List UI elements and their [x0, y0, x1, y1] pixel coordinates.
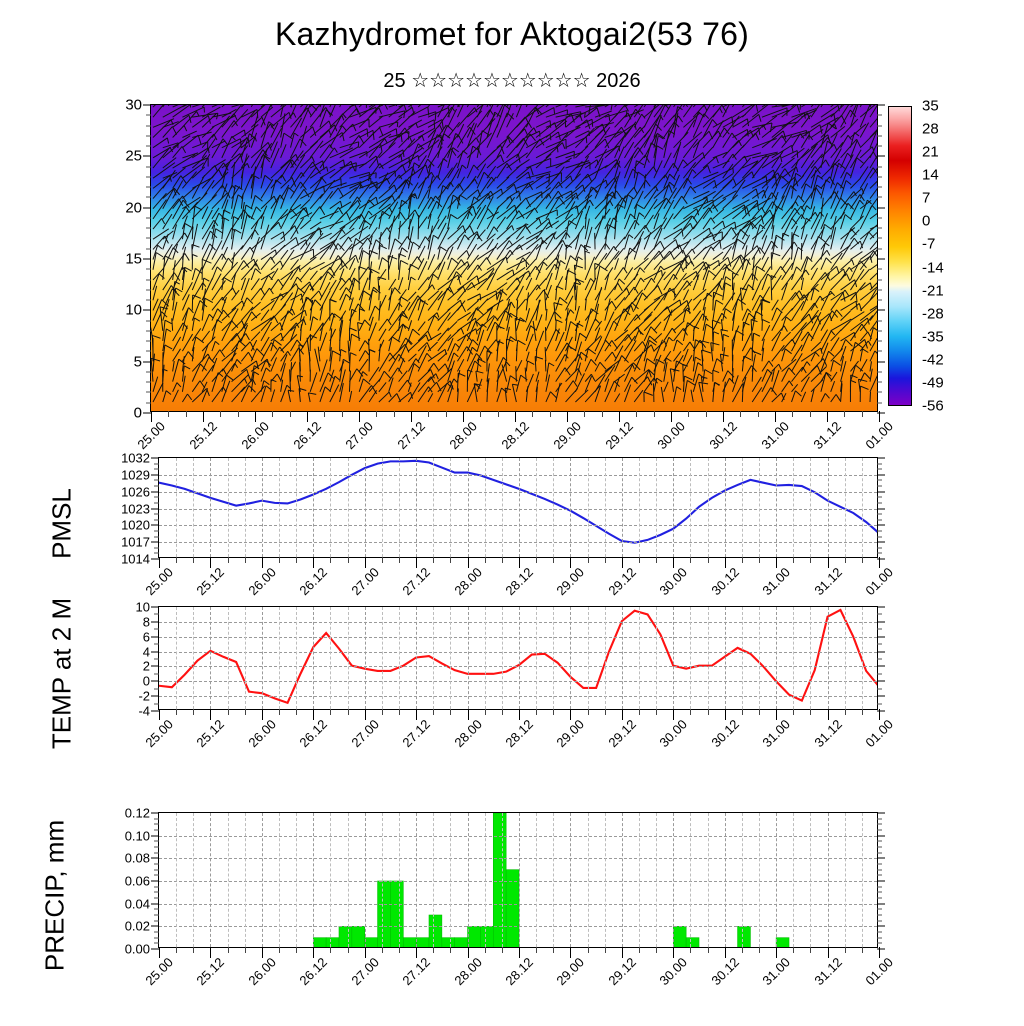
wind-barb	[850, 158, 856, 178]
x-tick-mark	[262, 557, 263, 568]
x-tick-label: 26.12	[290, 419, 324, 453]
wind-barb	[546, 329, 556, 351]
y-minor-tick	[154, 688, 159, 689]
wind-barb	[713, 382, 715, 402]
wind-barb-feather	[463, 151, 467, 154]
wind-barb-feather	[588, 349, 596, 354]
wind-barb	[359, 173, 376, 178]
wind-barb-feather	[720, 108, 722, 113]
wind-barb-feather	[634, 287, 638, 293]
y-tick-mark	[877, 525, 885, 526]
y-minor-tick	[154, 659, 159, 660]
wind-barb	[674, 206, 684, 219]
x-minor-tick	[656, 709, 657, 715]
wind-barb-feather	[637, 204, 644, 208]
wind-barb	[674, 216, 692, 229]
wind-barb	[782, 258, 791, 270]
wind-barb-feather	[476, 308, 483, 315]
grid-line-vertical-minor	[433, 458, 434, 557]
grid-line-vertical	[828, 607, 829, 709]
wind-barb-feather	[724, 128, 729, 134]
wind-barb	[340, 142, 359, 148]
wind-barb-feather	[465, 235, 470, 240]
grid-line-vertical	[416, 458, 417, 557]
wind-barb	[615, 393, 620, 401]
wind-barb	[379, 207, 389, 219]
wind-barb-feather	[852, 260, 854, 266]
wind-barb	[526, 108, 536, 128]
grid-line-vertical-minor	[176, 813, 177, 947]
wind-barb	[516, 105, 524, 117]
wind-barb-feather	[257, 349, 264, 356]
wind-barb-feather	[793, 234, 799, 237]
x-minor-tick	[394, 411, 395, 417]
wind-barb-feather	[176, 288, 183, 292]
y-tick-mark	[151, 636, 159, 637]
wind-barb	[359, 351, 365, 362]
wind-barb	[811, 296, 820, 310]
wind-barb-feather	[658, 285, 662, 294]
y-minor-tick	[146, 320, 151, 321]
wind-barb	[566, 245, 567, 260]
wind-barb	[399, 221, 401, 239]
grid-line-horizontal	[159, 622, 877, 623]
wind-barb-feather	[709, 228, 710, 233]
y-minor-tick	[877, 932, 882, 933]
grid-line-vertical	[673, 458, 674, 557]
wind-barb	[752, 105, 774, 117]
wind-barb	[634, 161, 636, 179]
grid-line-horizontal	[159, 652, 877, 653]
y-tick-mark	[877, 651, 885, 652]
wind-barb	[222, 228, 232, 250]
wind-barb	[448, 321, 458, 330]
y-tick-label: 30	[125, 97, 142, 114]
x-minor-tick	[759, 947, 760, 953]
x-minor-tick	[605, 709, 606, 715]
wind-barb-feather	[467, 250, 470, 256]
wind-barb-feather	[365, 351, 369, 355]
wind-barb	[271, 123, 278, 137]
wind-barb-feather	[402, 248, 408, 252]
wind-barb	[369, 128, 380, 138]
wind-barb-feather	[195, 206, 202, 210]
wind-barb	[389, 303, 399, 321]
wind-barb-feather	[395, 239, 402, 244]
y-minor-tick	[154, 915, 159, 916]
wind-barb-feather	[254, 372, 259, 375]
wind-barb	[821, 180, 826, 199]
wind-barb	[291, 362, 292, 381]
wind-barb-feather	[433, 274, 438, 278]
wind-barb	[438, 105, 455, 107]
y-minor-tick	[154, 920, 159, 921]
wind-barb	[536, 290, 544, 300]
precip-bar	[339, 926, 352, 947]
x-minor-tick	[296, 947, 297, 953]
x-minor-tick	[245, 709, 246, 715]
wind-barb-feather	[204, 278, 210, 281]
wind-barb-feather	[609, 114, 610, 121]
wind-barb	[792, 301, 804, 320]
wind-barb	[546, 312, 554, 331]
wind-barb	[615, 128, 631, 148]
wind-barb	[467, 105, 478, 107]
wind-barb-feather	[816, 352, 820, 356]
colorbar-tick-label: 7	[922, 190, 930, 207]
wind-barb	[309, 352, 310, 372]
y-tick-mark	[151, 858, 159, 859]
wind-barb-feather	[365, 220, 372, 225]
wind-barb	[713, 121, 724, 138]
grid-line-vertical-minor	[588, 813, 589, 947]
y-tick-mark	[151, 949, 159, 950]
x-tick-mark	[313, 947, 314, 958]
wind-barb	[182, 186, 196, 198]
wind-barb	[300, 267, 310, 279]
wind-barb	[477, 209, 488, 229]
grid-line-vertical	[468, 458, 469, 557]
wind-barb-feather	[340, 201, 341, 207]
wind-barb	[615, 237, 625, 250]
colorbar-tick-label: 0	[922, 213, 930, 230]
y-minor-tick	[154, 547, 159, 548]
x-tick-label: 25.12	[194, 717, 228, 751]
wind-barb	[585, 299, 586, 311]
wind-barb-feather	[695, 357, 700, 360]
grid-line-vertical-minor	[450, 458, 451, 557]
x-minor-tick	[330, 709, 331, 715]
wind-barb	[566, 120, 587, 138]
wind-barb	[752, 367, 753, 382]
wind-barb	[831, 105, 848, 107]
wind-barb	[182, 172, 196, 189]
grid-line-horizontal	[159, 836, 877, 837]
x-minor-tick	[450, 709, 451, 715]
grid-line-vertical-minor	[845, 813, 846, 947]
wind-barb	[762, 173, 778, 189]
wind-barb	[173, 361, 175, 371]
x-tick-label: 28.12	[502, 717, 536, 751]
y-tick-label: -2	[138, 689, 150, 704]
wind-barb-feather	[401, 260, 409, 264]
wind-barb	[163, 391, 166, 402]
y-tick-mark	[151, 621, 159, 622]
wind-barb-feather	[215, 341, 219, 344]
wind-barb	[232, 369, 247, 381]
wind-barb-feather	[312, 157, 314, 163]
wind-barb	[369, 134, 391, 148]
wind-barb	[330, 280, 336, 290]
wind-barb	[202, 210, 212, 229]
x-minor-tick	[330, 557, 331, 563]
wind-barb-feather	[166, 391, 171, 395]
y-minor-tick	[877, 536, 882, 537]
wind-barb-feather	[177, 383, 181, 387]
grid-line-horizontal	[159, 666, 877, 667]
wind-barb	[448, 239, 459, 249]
wind-barb	[566, 381, 574, 392]
wind-barb-feather	[657, 146, 663, 149]
wind-barb	[448, 272, 457, 291]
grid-line-vertical-minor	[845, 607, 846, 709]
wind-barb-feather	[256, 263, 259, 270]
wind-barb-feather	[334, 148, 337, 153]
x-tick-label: 29.12	[602, 419, 636, 453]
grid-line-vertical	[519, 607, 520, 709]
y-minor-tick	[146, 269, 151, 270]
wind-barb	[762, 325, 770, 341]
wind-barb-feather	[338, 188, 343, 196]
wind-barb	[438, 383, 447, 402]
y-tick-label: 1014	[121, 552, 150, 567]
wind-barb	[232, 290, 240, 300]
y-tick-mark	[143, 413, 151, 414]
wind-barb	[281, 250, 294, 270]
wind-barb	[644, 270, 661, 280]
x-minor-tick	[296, 709, 297, 715]
wind-barb-feather	[165, 320, 172, 323]
x-tick-mark	[519, 947, 520, 958]
y-tick-mark	[877, 636, 885, 637]
grid-line-vertical-minor	[245, 458, 246, 557]
y-tick-label: 0.02	[125, 919, 150, 934]
wind-barb	[595, 201, 610, 219]
grid-line-vertical-minor	[228, 458, 229, 557]
x-minor-tick	[228, 557, 229, 563]
y-tick-mark	[877, 207, 885, 208]
y-tick-mark	[143, 105, 151, 106]
wind-barb	[497, 250, 510, 270]
x-tick-label: 25.00	[142, 955, 176, 989]
y-minor-tick	[146, 197, 151, 198]
wind-barb	[222, 321, 232, 341]
wind-barb-feather	[796, 267, 801, 272]
wind-barb-feather	[167, 138, 168, 144]
wind-barb	[487, 300, 503, 311]
wind-barb	[222, 258, 228, 270]
wind-barb-feather	[162, 218, 165, 223]
grid-line-vertical	[776, 813, 777, 947]
wind-barb-feather	[702, 341, 709, 343]
wind-barb	[379, 329, 386, 341]
x-minor-tick	[636, 411, 637, 417]
y-minor-tick	[877, 553, 882, 554]
wind-barb-feather	[472, 347, 477, 351]
wind-barb	[173, 260, 176, 280]
x-minor-tick	[690, 709, 691, 715]
grid-line-horizontal	[159, 509, 877, 510]
wind-barb	[664, 240, 676, 250]
y-tick-mark	[877, 835, 885, 836]
wind-barb-feather	[786, 317, 791, 321]
y-tick-mark	[877, 903, 885, 904]
y-minor-tick	[877, 920, 882, 921]
x-minor-tick	[485, 557, 486, 563]
wind-barb	[202, 331, 209, 341]
wind-barb-feather	[454, 353, 458, 357]
grid-line-vertical-minor	[279, 607, 280, 709]
wind-barb-feather	[855, 342, 863, 348]
wind-barb	[212, 309, 218, 321]
x-tick-mark	[828, 557, 829, 568]
wind-barb-feather	[714, 332, 719, 334]
wind-barb	[418, 258, 424, 269]
x-minor-tick	[639, 709, 640, 715]
wind-barb	[418, 190, 428, 209]
wind-barb	[399, 371, 408, 382]
wind-barb	[173, 200, 183, 219]
precip-bar	[776, 938, 789, 947]
grid-line-horizontal	[159, 525, 877, 526]
wind-barb	[742, 356, 743, 371]
x-minor-tick	[656, 557, 657, 563]
x-tick-label: 31.00	[760, 955, 794, 989]
wind-barb	[751, 319, 752, 340]
wind-barb-feather	[440, 247, 446, 251]
wind-barb	[448, 379, 454, 392]
wind-barb-feather	[723, 334, 729, 336]
wind-barb-feather	[684, 376, 692, 380]
wind-barb	[349, 371, 350, 392]
wind-barb-feather	[556, 320, 562, 323]
wind-barb	[711, 343, 713, 362]
wind-barb	[438, 353, 447, 361]
wind-barb	[222, 381, 230, 402]
x-minor-tick	[602, 411, 603, 417]
wind-barb-feather	[389, 392, 391, 397]
wind-barb-feather	[807, 362, 810, 366]
y-minor-tick	[877, 673, 882, 674]
wind-barb	[664, 274, 674, 290]
precip-axis-label: PRECIP, mm	[40, 766, 71, 1026]
wind-barb	[841, 332, 855, 341]
wind-barb	[654, 198, 666, 208]
wind-barb	[379, 154, 401, 168]
wind-barb-feather	[612, 352, 615, 358]
wind-barb	[487, 380, 488, 402]
wind-barb-feather	[308, 393, 316, 394]
wind-barb	[271, 333, 281, 341]
wind-barb-feather	[165, 345, 172, 349]
precip-bar	[429, 915, 442, 947]
wind-barb	[399, 200, 402, 219]
wind-barb	[742, 153, 761, 158]
wind-barb	[271, 160, 291, 178]
wind-barb	[202, 247, 213, 270]
x-tick-label: 29.12	[605, 717, 639, 751]
wind-barb-feather	[341, 349, 346, 352]
grid-line-vertical-minor	[793, 607, 794, 709]
wind-barb	[359, 105, 370, 107]
wind-barb-feather	[385, 139, 388, 144]
x-tick-mark	[723, 411, 724, 422]
wind-barb	[860, 269, 869, 280]
wind-barb	[202, 344, 208, 362]
precip-bar	[378, 881, 391, 947]
wind-barb	[359, 341, 365, 352]
wind-barb	[467, 176, 476, 188]
colorbar-tick-label: -42	[922, 351, 944, 368]
colorbar-tick-label: -35	[922, 328, 944, 345]
x-minor-tick	[536, 709, 537, 715]
y-minor-tick	[154, 553, 159, 554]
wind-barb	[674, 196, 682, 209]
wind-barb	[654, 272, 665, 290]
wind-barb-feather	[713, 370, 719, 372]
wind-barb	[281, 334, 297, 351]
x-minor-tick	[502, 557, 503, 563]
grid-line-vertical	[210, 607, 211, 709]
wind-barb	[870, 262, 877, 269]
wind-barb	[457, 250, 466, 259]
wind-barb	[821, 235, 831, 249]
grid-line-vertical-minor	[245, 607, 246, 709]
wind-barb-feather	[590, 200, 593, 206]
wind-barb	[713, 332, 714, 351]
x-minor-tick	[324, 411, 325, 417]
wind-barb-feather	[726, 277, 731, 280]
wind-barb	[310, 271, 317, 280]
grid-line-vertical	[622, 458, 623, 557]
wind-barb	[418, 215, 419, 239]
grid-line-vertical-minor	[193, 813, 194, 947]
wind-barb	[644, 298, 660, 311]
wind-barb	[762, 116, 777, 127]
x-tick-label: 29.12	[605, 955, 639, 989]
x-tick-mark	[879, 709, 880, 720]
x-tick-label: 30.00	[657, 717, 691, 751]
grid-line-vertical-minor	[742, 813, 743, 947]
y-minor-tick	[877, 187, 882, 188]
wind-barb	[428, 201, 437, 219]
y-minor-tick	[877, 135, 882, 136]
wind-barb	[153, 120, 171, 138]
wind-barb	[841, 110, 851, 127]
grid-line-vertical	[673, 813, 674, 947]
y-minor-tick	[877, 125, 882, 126]
wind-barb-feather	[255, 269, 261, 274]
y-minor-tick	[877, 547, 882, 548]
x-minor-tick	[220, 411, 221, 417]
grid-line-horizontal	[159, 475, 877, 476]
x-tick-label: 28.12	[498, 419, 532, 453]
wind-barb	[232, 260, 244, 279]
y-tick-mark	[151, 458, 159, 459]
grid-line-vertical-minor	[862, 607, 863, 709]
wind-barb	[654, 289, 674, 301]
wind-barb	[674, 250, 683, 260]
wind-barb	[792, 391, 796, 402]
x-tick-mark	[775, 411, 776, 422]
wind-barb	[163, 105, 173, 107]
wind-barb-feather	[277, 374, 281, 381]
x-tick-mark	[411, 411, 412, 422]
x-minor-tick	[810, 557, 811, 563]
wind-barb-feather	[528, 172, 530, 179]
grid-line-vertical-minor	[605, 458, 606, 557]
wind-barb	[526, 218, 539, 229]
wind-barb-feather	[806, 184, 811, 188]
x-minor-tick	[584, 411, 585, 417]
colorbar-tick-label: -56	[922, 398, 944, 415]
wind-barb	[683, 105, 694, 107]
wind-barb-feather	[346, 212, 350, 220]
wind-barb-feather	[669, 337, 673, 341]
wind-barb	[526, 139, 540, 158]
wind-barb	[821, 105, 838, 117]
x-tick-mark	[463, 411, 464, 422]
